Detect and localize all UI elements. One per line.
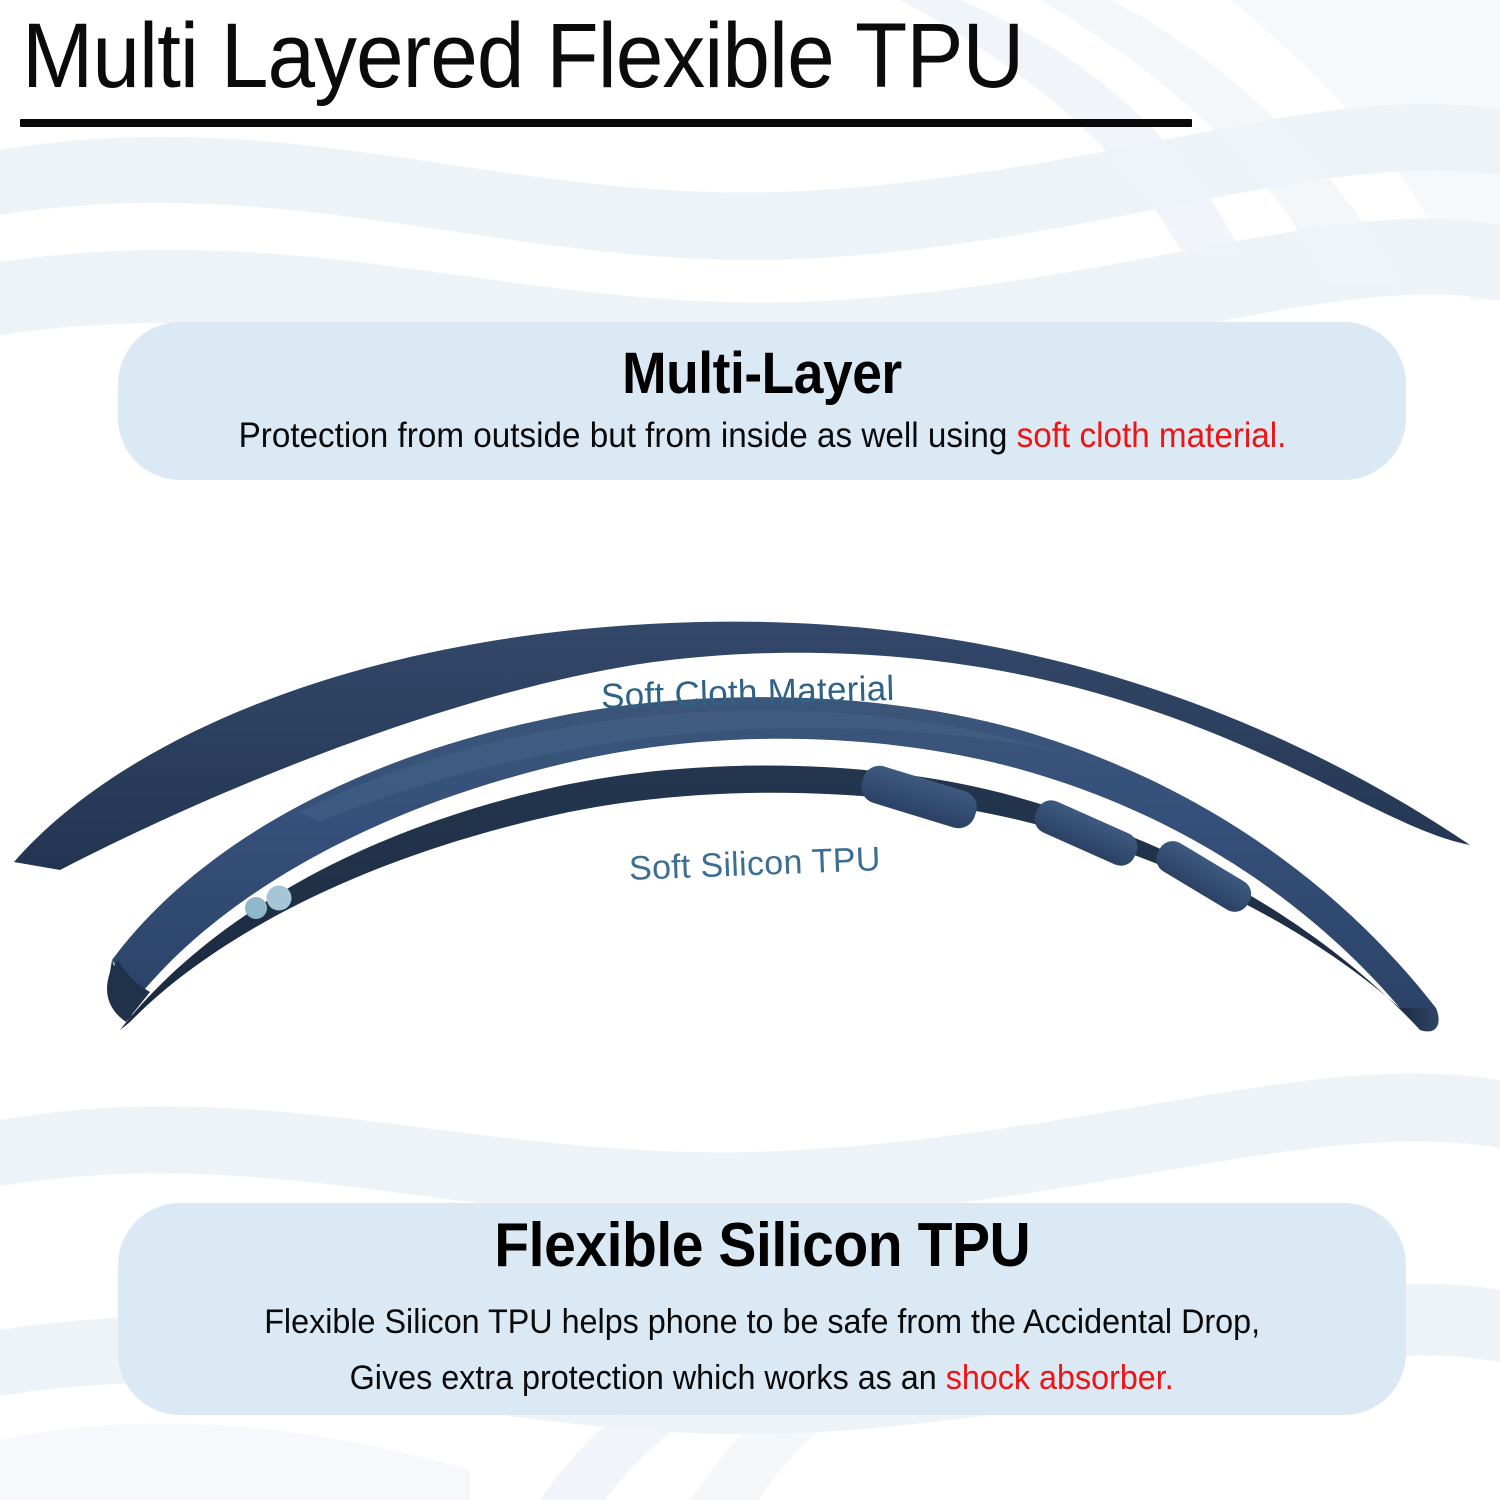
multi-layer-body-plain: Protection from outside but from inside … bbox=[238, 416, 1016, 455]
flexible-silicon-tpu-body-line1: Flexible Silicon TPU helps phone to be s… bbox=[264, 1294, 1260, 1350]
multi-layer-body-highlight: soft cloth material. bbox=[1016, 416, 1286, 455]
flexible-silicon-tpu-body-highlight: shock absorber. bbox=[946, 1359, 1174, 1397]
multi-layer-info-card: Multi-Layer Protection from outside but … bbox=[118, 322, 1406, 480]
page-header: Multi Layered Flexible TPU bbox=[0, 0, 1500, 140]
flexible-silicon-tpu-heading: Flexible Silicon TPU bbox=[494, 1212, 1030, 1280]
volume-up-button bbox=[857, 762, 981, 833]
cloth-layer-arc bbox=[14, 622, 1470, 870]
flash-dot-icon bbox=[267, 886, 292, 911]
multi-layer-heading: Multi-Layer bbox=[622, 343, 902, 405]
flexible-silicon-tpu-body-plain: Gives extra protection which works as an bbox=[350, 1359, 946, 1397]
camera-dot-icon bbox=[245, 897, 267, 919]
phone-case-illustration bbox=[0, 560, 1500, 1080]
title-underline-rule bbox=[20, 119, 1192, 127]
flexible-silicon-tpu-info-card: Flexible Silicon TPU Flexible Silicon TP… bbox=[118, 1203, 1406, 1415]
multi-layer-body: Protection from outside but from inside … bbox=[238, 413, 1286, 459]
volume-down-button bbox=[1030, 796, 1142, 871]
label-soft-cloth-material: Soft Cloth Material bbox=[600, 669, 895, 717]
flexible-silicon-tpu-body-line2: Gives extra protection which works as an… bbox=[350, 1350, 1174, 1406]
page-title: Multi Layered Flexible TPU bbox=[22, 4, 1023, 108]
